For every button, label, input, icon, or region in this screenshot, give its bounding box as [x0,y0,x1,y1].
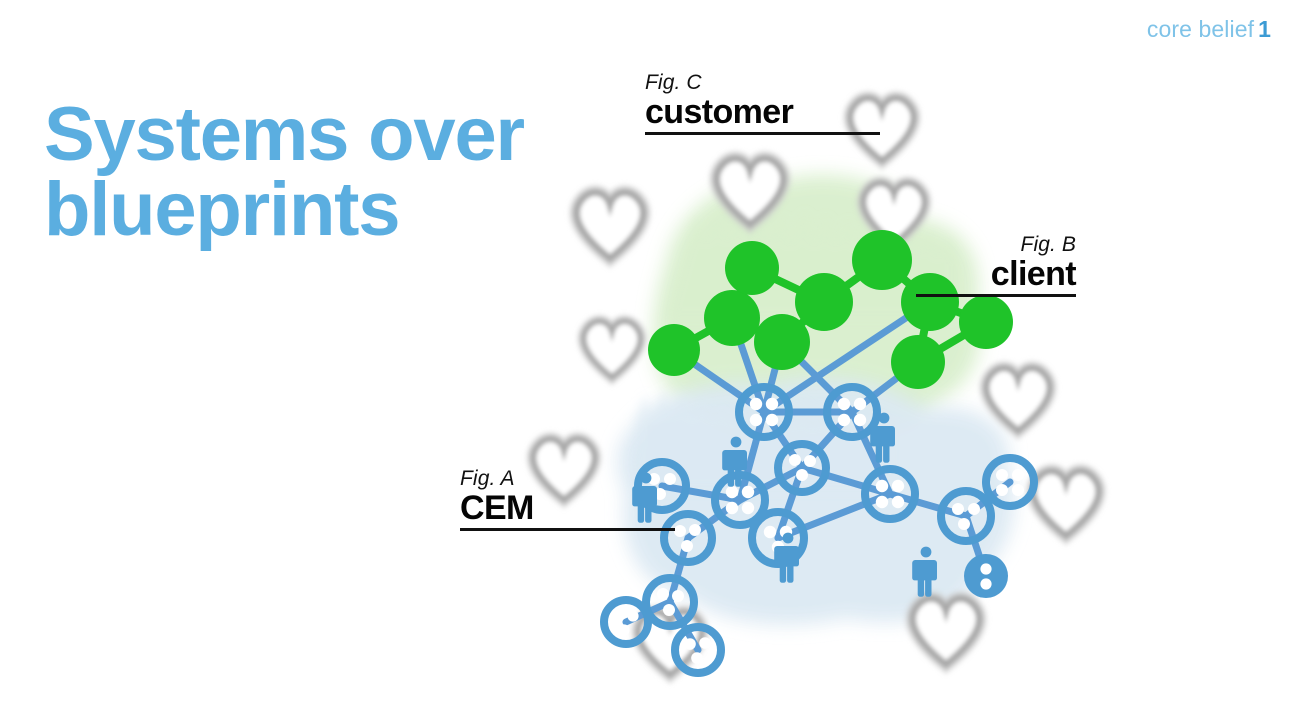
figure-name: customer [645,95,885,131]
heart-icon [584,322,640,377]
client-node [704,290,760,346]
heart-icon [577,193,643,258]
heart-icon [717,159,783,224]
eyebrow-number: 1 [1258,16,1271,42]
client-node [891,335,945,389]
figure-caption-cem: Fig. A CEM [460,468,675,531]
heart-icon [913,599,979,664]
client-node [725,241,779,295]
figure-rule [645,132,880,135]
heart-icon [1034,472,1099,536]
figure-number: Fig. A [460,468,675,491]
slide-canvas: core belief1 Systems over blueprints [0,0,1295,718]
client-node [852,230,912,290]
client-node [648,324,700,376]
figure-caption-customer: Fig. C customer [645,72,885,135]
eyebrow-label: core belief [1147,16,1254,42]
heart-icon [987,368,1050,430]
figure-name: CEM [460,491,675,527]
figure-caption-client: Fig. B client [916,234,1076,297]
figure-number: Fig. C [645,72,885,95]
figure-rule [460,528,675,531]
client-node [959,295,1013,349]
figure-rule [916,294,1076,297]
core-belief-eyebrow: core belief1 [1147,16,1271,43]
figure-name: client [916,257,1076,293]
cem-node [964,554,1008,598]
figure-number: Fig. B [916,234,1076,257]
client-node [754,314,810,370]
client-node [795,273,853,331]
